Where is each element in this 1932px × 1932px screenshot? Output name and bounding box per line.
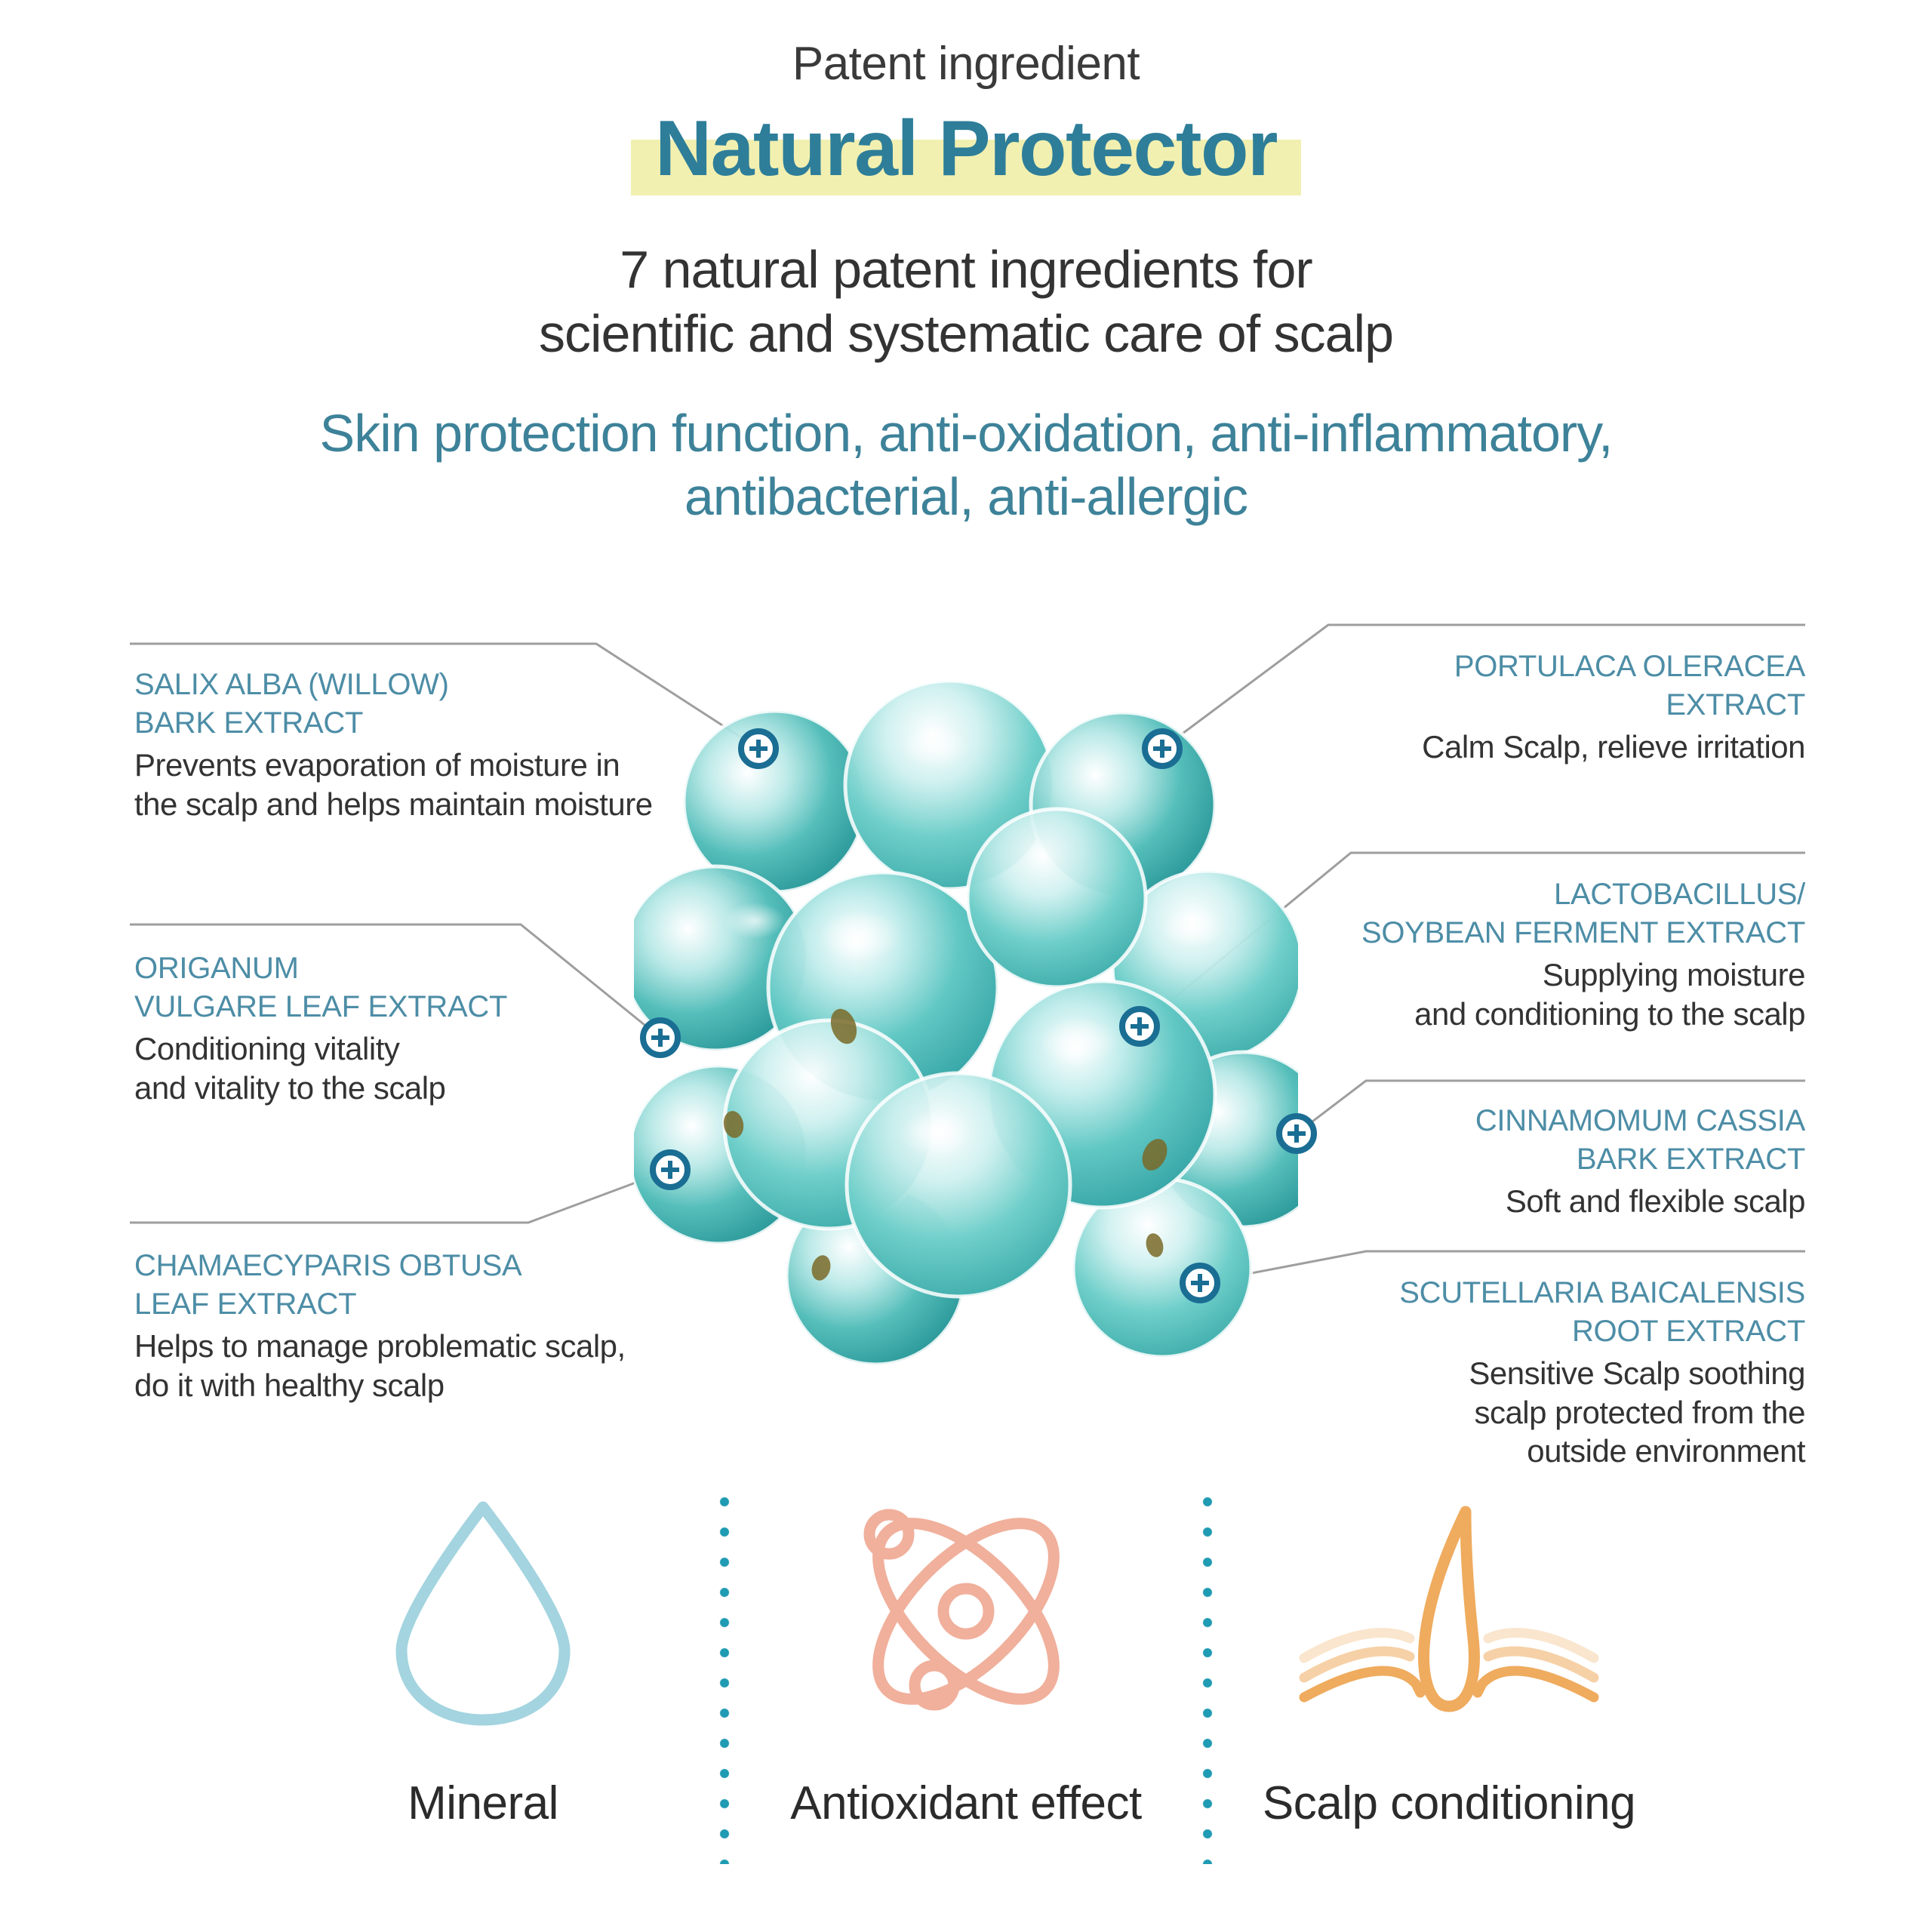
title-wrap: Natural Protector xyxy=(0,105,1932,198)
tagline-line-1: Skin protection function, anti-oxidation… xyxy=(0,401,1932,465)
benefits-row: Mineral Antioxidant effect xyxy=(0,1487,1932,1932)
atom-icon xyxy=(845,1487,1087,1736)
plus-icon-node-1[interactable] xyxy=(738,728,779,769)
ingredient-desc: Helps to manage problematic scalp, do it… xyxy=(134,1327,708,1404)
subtitle-line-1: 7 natural patent ingredients for xyxy=(0,238,1932,302)
ingredient-name: LACTOBACILLUS/ SOYBEAN FERMENT EXTRACT xyxy=(1201,875,1805,952)
ingredient-name: ORIGANUM VULGARE LEAF EXTRACT xyxy=(134,949,663,1026)
benefits-divider-2 xyxy=(1200,1487,1215,1864)
page-title: Natural Protector xyxy=(631,105,1301,198)
plus-icon-node-6[interactable] xyxy=(650,1149,691,1190)
ingredient-label-portulaca: PORTULACA OLERACEA EXTRACT Calm Scalp, r… xyxy=(1232,648,1805,767)
ingredient-desc: Prevents evaporation of moisture in the … xyxy=(134,746,693,823)
benefits-divider-1 xyxy=(717,1487,732,1864)
ingredient-name: SCUTELLARIA BAICALENSIS ROOT EXTRACT xyxy=(1217,1274,1805,1351)
ingredient-desc: Calm Scalp, relieve irritation xyxy=(1232,728,1805,766)
ingredient-desc: Sensitive Scalp soothing scalp protected… xyxy=(1217,1354,1805,1470)
ingredient-label-chamaecyparis: CHAMAECYPARIS OBTUSA LEAF EXTRACT Helps … xyxy=(134,1247,708,1404)
ingredient-name: PORTULACA OLERACEA EXTRACT xyxy=(1232,648,1805,724)
molecule-svg xyxy=(634,672,1298,1366)
subtitle-line-2: scientific and systematic care of scalp xyxy=(0,302,1932,366)
ingredient-label-lactobacillus: LACTOBACILLUS/ SOYBEAN FERMENT EXTRACT S… xyxy=(1201,875,1805,1033)
benefit-scalp-conditioning: Scalp conditioning xyxy=(1223,1487,1675,1830)
leader-line-left-3 xyxy=(130,1170,670,1223)
ingredient-label-salix-alba: SALIX ALBA (WILLOW) BARK EXTRACT Prevent… xyxy=(134,666,693,823)
infographic-page: Patent ingredient Natural Protector 7 na… xyxy=(0,0,1932,1932)
ingredient-desc: Soft and flexible scalp xyxy=(1232,1182,1805,1220)
ingredient-label-cinnamomum: CINNAMOMUM CASSIA BARK EXTRACT Soft and … xyxy=(1232,1102,1805,1221)
benefit-mineral: Mineral xyxy=(257,1487,709,1830)
benefit-label: Antioxidant effect xyxy=(790,1777,1142,1830)
plus-icon-node-3[interactable] xyxy=(1119,1006,1160,1047)
benefit-label: Scalp conditioning xyxy=(1263,1777,1635,1830)
ingredient-name: CINNAMOMUM CASSIA BARK EXTRACT xyxy=(1232,1102,1805,1179)
molecule-cluster-image xyxy=(634,672,1298,1366)
subtitle: 7 natural patent ingredients for scienti… xyxy=(0,238,1932,367)
page-title-text: Natural Protector xyxy=(655,105,1277,192)
header: Patent ingredient Natural Protector 7 na… xyxy=(0,0,1932,528)
ingredient-label-scutellaria: SCUTELLARIA BAICALENSIS ROOT EXTRACT Sen… xyxy=(1217,1274,1805,1470)
ingredient-desc: Supplying moisture and conditioning to t… xyxy=(1201,955,1805,1032)
plus-icon-node-2[interactable] xyxy=(1142,728,1183,769)
ingredient-label-origanum: ORIGANUM VULGARE LEAF EXTRACT Conditioni… xyxy=(134,949,663,1107)
ingredient-name: SALIX ALBA (WILLOW) BARK EXTRACT xyxy=(134,666,693,743)
ingredient-diagram: SALIX ALBA (WILLOW) BARK EXTRACT Prevent… xyxy=(0,619,1932,1464)
tagline: Skin protection function, anti-oxidation… xyxy=(0,401,1932,528)
benefit-antioxidant: Antioxidant effect xyxy=(740,1487,1192,1830)
ingredient-desc: Conditioning vitality and vitality to th… xyxy=(134,1029,663,1106)
tagline-line-2: antibacterial, anti-allergic xyxy=(0,465,1932,528)
water-drop-icon xyxy=(377,1487,589,1736)
eyebrow-text: Patent ingredient xyxy=(0,39,1932,88)
ingredient-name: CHAMAECYPARIS OBTUSA LEAF EXTRACT xyxy=(134,1247,708,1324)
hair-follicle-icon xyxy=(1291,1487,1607,1736)
benefit-label: Mineral xyxy=(408,1777,558,1830)
plus-icon-node-7[interactable] xyxy=(1180,1263,1220,1303)
